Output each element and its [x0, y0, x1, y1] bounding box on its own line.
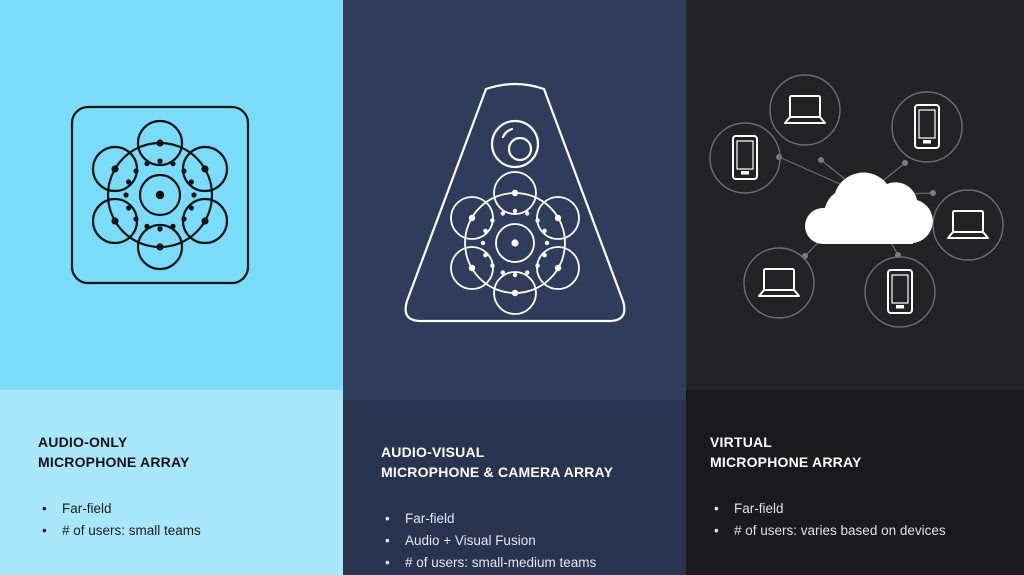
- device-node-left-phone: [710, 123, 780, 193]
- list-item-label: Far-field: [405, 511, 455, 526]
- illustration-audio-only: [0, 0, 343, 390]
- device-node-right-laptop: [933, 190, 1003, 260]
- laptop-icon: [785, 96, 825, 123]
- list-item: • Far-field: [710, 498, 1024, 520]
- microphone-array-square-graphic: [60, 95, 260, 295]
- phone-icon: [915, 105, 939, 148]
- list-item-label: # of users: small teams: [62, 523, 201, 538]
- cloud-icon: [805, 173, 933, 244]
- heading-line-1: VIRTUAL: [710, 432, 1024, 452]
- slide-root: AUDIO-ONLY MICROPHONE ARRAY • Far-field …: [0, 0, 1024, 575]
- heading-line-2: MICROPHONE ARRAY: [38, 452, 343, 472]
- panel-heading-virtual: VIRTUAL MICROPHONE ARRAY: [710, 432, 1024, 472]
- list-item-label: Audio + Visual Fusion: [405, 533, 536, 548]
- list-item: • # of users: small-medium teams: [381, 552, 686, 574]
- node-ring: [710, 123, 780, 193]
- panel-audio-visual: AUDIO-VISUAL MICROPHONE & CAMERA ARRAY •…: [343, 0, 686, 575]
- list-item: • # of users: varies based on devices: [710, 520, 1024, 542]
- laptop-icon: [759, 269, 799, 296]
- bullet-glyph-icon: •: [385, 530, 390, 552]
- caption-audio-visual: AUDIO-VISUAL MICROPHONE & CAMERA ARRAY •…: [343, 400, 686, 575]
- panel-heading-audio-visual: AUDIO-VISUAL MICROPHONE & CAMERA ARRAY: [381, 442, 686, 482]
- heading-line-2: MICROPHONE & CAMERA ARRAY: [381, 462, 686, 482]
- heading-line-1: AUDIO-ONLY: [38, 432, 343, 452]
- device-body-outline: [405, 84, 624, 321]
- bullet-glyph-icon: •: [42, 520, 47, 542]
- phone-icon: [888, 270, 912, 313]
- device-node-top-laptop: [770, 75, 840, 145]
- camera-lens-outer-circle: [492, 121, 538, 167]
- list-item-label: # of users: small-medium teams: [405, 555, 596, 570]
- panel-virtual: VIRTUAL MICROPHONE ARRAY • Far-field • #…: [686, 0, 1024, 575]
- camera-lens-highlight-arc: [503, 129, 512, 137]
- bullet-glyph-icon: •: [42, 498, 47, 520]
- heading-line-1: AUDIO-VISUAL: [381, 442, 686, 462]
- phone-icon: [733, 136, 757, 179]
- cloud-network-graphic: [705, 30, 1024, 360]
- list-item: • # of users: small teams: [38, 520, 343, 542]
- bullet-glyph-icon: •: [714, 520, 719, 542]
- node-ring: [865, 257, 935, 327]
- panel-audio-only: AUDIO-ONLY MICROPHONE ARRAY • Far-field …: [0, 0, 343, 575]
- caption-audio-only: AUDIO-ONLY MICROPHONE ARRAY • Far-field …: [0, 390, 343, 575]
- illustration-virtual: [686, 0, 1024, 390]
- device-node-bottom-left-laptop: [744, 248, 814, 318]
- list-item-label: # of users: varies based on devices: [734, 523, 946, 538]
- device-node-bottom-right-phone: [865, 257, 935, 327]
- bullet-glyph-icon: •: [714, 498, 719, 520]
- illustration-audio-visual: [343, 0, 686, 400]
- camera-lens-inner-circle: [509, 138, 531, 160]
- trapezoid-device-graphic: [390, 65, 640, 345]
- bullet-glyph-icon: •: [385, 552, 390, 574]
- device-node-top-right-phone: [892, 92, 962, 162]
- node-ring: [933, 190, 1003, 260]
- panel-heading-audio-only: AUDIO-ONLY MICROPHONE ARRAY: [38, 432, 343, 472]
- list-item-label: Far-field: [734, 501, 784, 516]
- bullet-glyph-icon: •: [385, 508, 390, 530]
- list-item-label: Far-field: [62, 501, 112, 516]
- list-item: • Far-field: [381, 508, 686, 530]
- camera-lens-icon: [492, 121, 538, 167]
- node-ring: [892, 92, 962, 162]
- bullet-list-audio-only: • Far-field • # of users: small teams: [38, 498, 343, 542]
- node-ring: [744, 248, 814, 318]
- list-item: • Audio + Visual Fusion: [381, 530, 686, 552]
- caption-virtual: VIRTUAL MICROPHONE ARRAY • Far-field • #…: [686, 390, 1024, 575]
- laptop-icon: [948, 211, 988, 238]
- bullet-list-virtual: • Far-field • # of users: varies based o…: [710, 498, 1024, 542]
- bullet-list-audio-visual: • Far-field • Audio + Visual Fusion • # …: [381, 508, 686, 574]
- heading-line-2: MICROPHONE ARRAY: [710, 452, 1024, 472]
- list-item: • Far-field: [38, 498, 343, 520]
- node-ring: [770, 75, 840, 145]
